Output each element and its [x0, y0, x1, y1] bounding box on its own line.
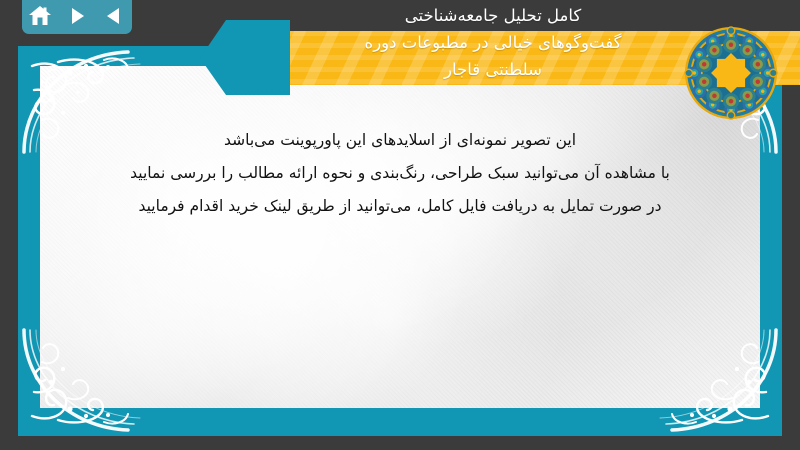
previous-slide-button[interactable] [101, 3, 127, 29]
page-title: کامل تحلیل جامعه‌شناختی گفت‌وگوهای خیالی… [296, 2, 690, 83]
body-line-1: این تصویر نمونه‌ای از اسلایدهای این پاور… [64, 124, 736, 157]
slide-navigation-bar [22, 0, 132, 34]
body-line-3: در صورت تمایل به دریافت فایل کامل، می‌تو… [64, 190, 736, 223]
slide-viewer: این تصویر نمونه‌ای از اسلایدهای این پاور… [0, 0, 800, 450]
next-slide-button[interactable] [64, 3, 90, 29]
triangle-right-icon [66, 5, 88, 27]
home-button[interactable] [27, 3, 53, 29]
slide-paper-background [40, 66, 760, 408]
slide-title-banner: کامل تحلیل جامعه‌شناختی گفت‌وگوهای خیالی… [200, 0, 800, 108]
triangle-left-icon [103, 5, 125, 27]
slide-body-text: این تصویر نمونه‌ای از اسلایدهای این پاور… [64, 124, 736, 223]
home-icon [28, 5, 52, 27]
persian-medallion-ornament-icon [684, 26, 778, 120]
body-line-2: با مشاهده آن می‌توانید سبک طراحی، رنگ‌بن… [64, 157, 736, 190]
